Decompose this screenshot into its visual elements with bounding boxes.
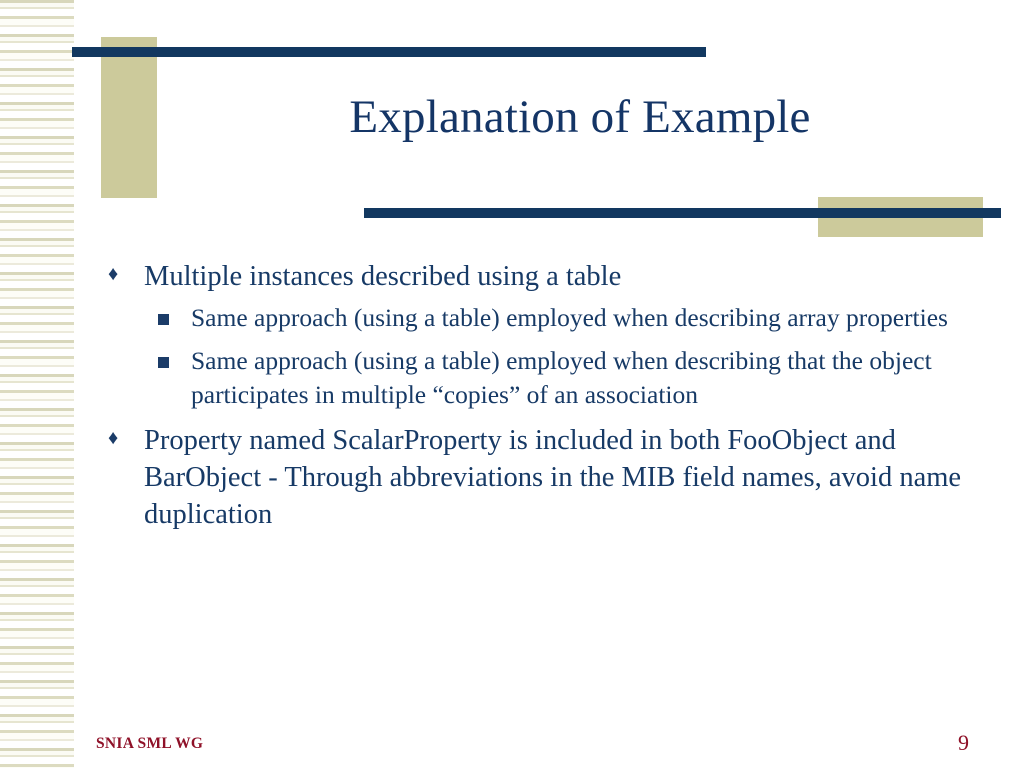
footer-organization: SNIA SML WG [96,735,203,753]
bullet-item-level2: Same approach (using a table) employed w… [104,344,984,412]
bullet-item-level1: ♦ Property named ScalarProperty is inclu… [104,422,984,533]
diamond-bullet-icon: ♦ [108,258,118,290]
bullet-text: Same approach (using a table) employed w… [191,303,948,332]
decorative-navy-bar-top [72,47,706,57]
diamond-bullet-icon: ♦ [108,422,118,454]
footer-page-number: 9 [958,730,969,756]
decorative-navy-bar-bottom [364,208,1001,218]
slide-body: ♦ Multiple instances described using a t… [104,258,984,537]
decorative-tan-block-left [101,37,157,198]
slide-canvas: Explanation of Example ♦ Multiple instan… [0,0,1024,768]
square-bullet-icon [158,357,169,368]
bullet-text: Multiple instances described using a tab… [144,261,621,292]
bullet-item-level1: ♦ Multiple instances described using a t… [104,258,984,295]
bullet-item-level2: Same approach (using a table) employed w… [104,301,984,335]
decorative-stripe-band [0,0,74,768]
bullet-sublist: Same approach (using a table) employed w… [104,301,984,412]
square-bullet-icon [158,314,169,325]
bullet-text: Property named ScalarProperty is include… [144,425,961,530]
page-title: Explanation of Example [170,92,990,144]
bullet-text: Same approach (using a table) employed w… [191,346,932,409]
